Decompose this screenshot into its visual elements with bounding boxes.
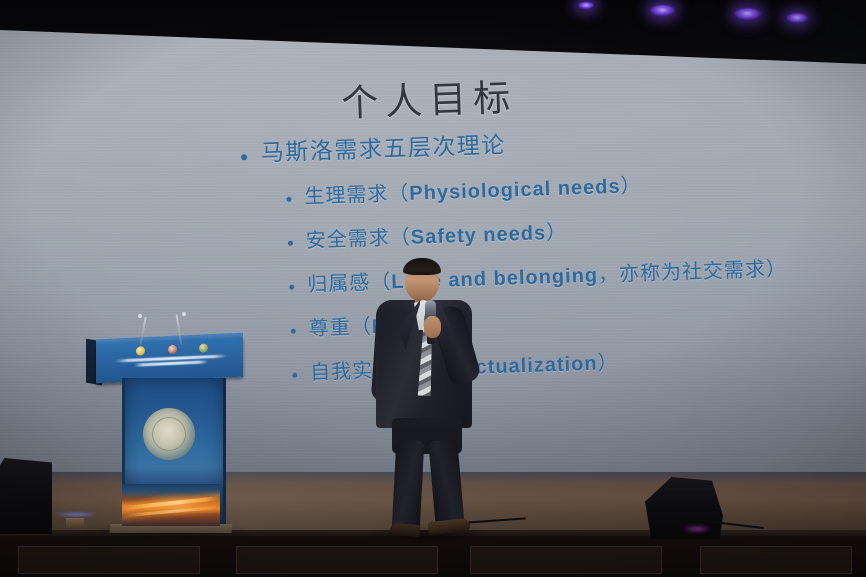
bullet-en: Safety needs [410,223,546,249]
bullet-text: 生理需求（Physiological needs） [304,167,862,208]
purple-floor-light [684,525,710,533]
paren-close: ） [620,173,642,198]
bullet-dot-icon [289,284,294,289]
banner-text-line [134,360,208,366]
stage-prop-box [66,518,84,528]
institutional-seal-icon [143,408,195,460]
bullet-item-safety: 安全需求（Safety needs） [244,211,864,255]
bullet-item-maslow-theory: 马斯洛需求五层次理论 [241,122,861,168]
bullet-cn: 尊重 [308,315,351,340]
bullet-cn: 归属感 [307,270,371,296]
podium-logo-icon [168,345,177,354]
presenter-left-leg [392,439,425,532]
stage-monitor-left [0,458,52,534]
podium-microphone-head-icon [182,312,186,316]
paren-close: ） [546,220,568,245]
bullet-cn: 安全需求 [305,226,390,253]
podium-logo-icon [199,343,208,352]
paren-open: （ [370,270,392,295]
presenter-left-shoe [390,523,421,537]
podium-microphone-head-icon [138,314,142,318]
bullet-dot-icon [241,154,247,160]
pit-panel [236,546,438,574]
blue-floor-light [56,512,96,517]
podium-logo-icon [136,346,145,355]
bullet-dot-icon [288,240,293,245]
pit-panel [18,546,200,574]
paren-open: （ [388,181,410,206]
presenter-hand [424,316,441,338]
bullet-cn: 生理需求 [304,182,389,209]
bullet-item-self-actualization: 自我实现（Self-actualization） [248,343,866,387]
bullet-dot-icon [292,372,297,377]
bullet-item-esteem: 尊重（Esteem） [246,299,866,343]
bullet-item-love-belonging: 归属感（Love and belonging，亦称为社交需求） [245,255,865,299]
pit-panel [700,546,852,574]
paren-open: （ [389,225,411,250]
bullet-en: Physiological needs [409,176,621,205]
bullet-text: 归属感（Love and belonging，亦称为社交需求） [307,255,865,296]
podium-bridge-image [122,484,220,526]
paren-close: ） [766,257,788,282]
paren-close: ） [597,350,619,375]
slide-bullet-list: 马斯洛需求五层次理论 生理需求（Physiological needs） 安全需… [241,122,866,408]
pit-panel [470,546,662,574]
bullet-cn-tail: ，亦称为社交需求 [598,257,767,287]
paren-open: （ [350,314,372,339]
bullet-text: 马斯洛需求五层次理论 [261,122,862,167]
bullet-item-physiological: 生理需求（Physiological needs） [242,167,862,211]
bullet-dot-icon [286,196,291,201]
bullet-text: 安全需求（Safety needs） [305,211,863,252]
bullet-dot-icon [291,328,296,333]
presentation-photo-scene: 个人目标 马斯洛需求五层次理论 生理需求（Physiological needs… [0,0,866,577]
